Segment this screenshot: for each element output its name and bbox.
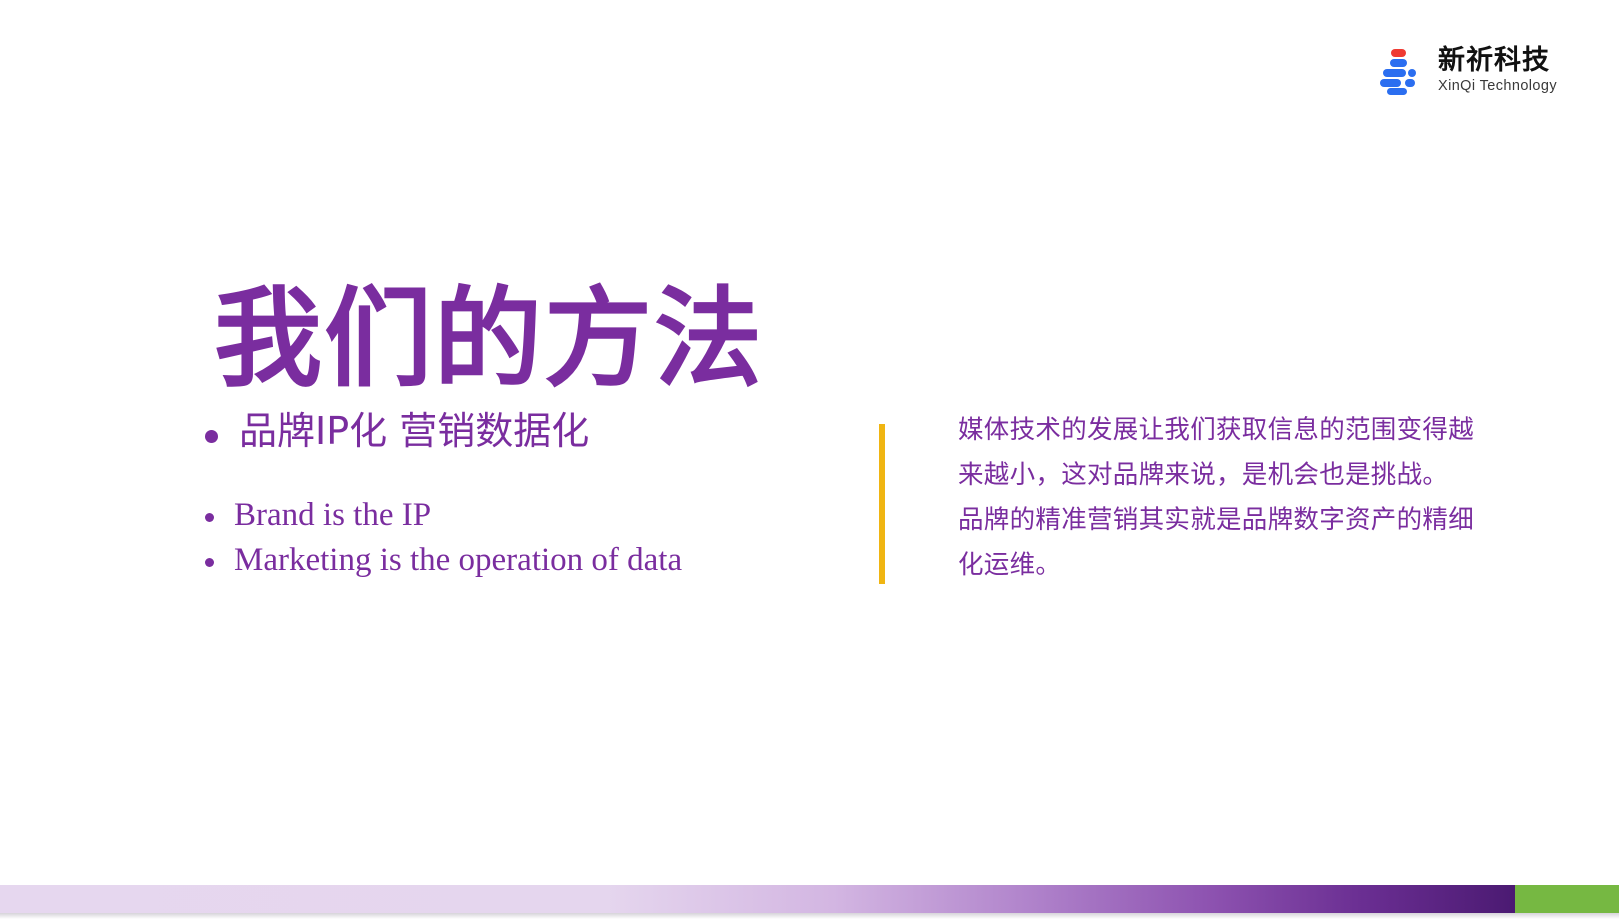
list-item: 品牌IP化 营销数据化 [205,408,845,456]
paragraph-line-1: 媒体技术的发展让我们获取信息的范围变得越 [958,408,1498,453]
brand-name-en: XinQi Technology [1438,79,1557,94]
bottom-bar-shadow [0,913,1619,919]
brand-logo: 新祈科技 XinQi Technology [1372,44,1557,96]
bottom-bar-gradient-segment [0,885,1515,913]
left-content-column: 品牌IP化 营销数据化 Brand is the IP Marketing is… [205,408,845,587]
primary-bullet-label: 品牌IP化 营销数据化 [239,408,589,456]
gold-divider [879,424,885,584]
paragraph-line-4: 化运维。 [958,543,1498,588]
list-item: Brand is the IP [205,496,845,536]
bullet-dot-icon [205,430,218,443]
bullet-dot-icon [205,558,214,567]
bottom-bar-green-segment [1515,885,1619,913]
bottom-accent-bar [0,885,1619,913]
page-title: 我们的方法 [214,276,764,403]
bullet-dot-icon [205,513,214,522]
paragraph-line-3: 品牌的精准营销其实就是品牌数字资产的精细 [958,498,1498,543]
brand-name-cn: 新祈科技 [1438,47,1557,74]
xinqi-stacked-bars-logo-icon [1372,44,1424,96]
right-content-column: 媒体技术的发展让我们获取信息的范围变得越 来越小，这对品牌来说，是机会也是挑战。… [958,408,1498,588]
list-item: Marketing is the operation of data [205,541,845,581]
brand-logo-text: 新祈科技 XinQi Technology [1438,47,1557,94]
paragraph-line-2: 来越小，这对品牌来说，是机会也是挑战。 [958,453,1498,498]
slide-canvas: 新祈科技 XinQi Technology 我们的方法 品牌IP化 营销数据化 … [0,0,1619,919]
sub-bullet-label-1: Brand is the IP [234,496,431,536]
sub-bullet-label-2: Marketing is the operation of data [234,541,682,581]
